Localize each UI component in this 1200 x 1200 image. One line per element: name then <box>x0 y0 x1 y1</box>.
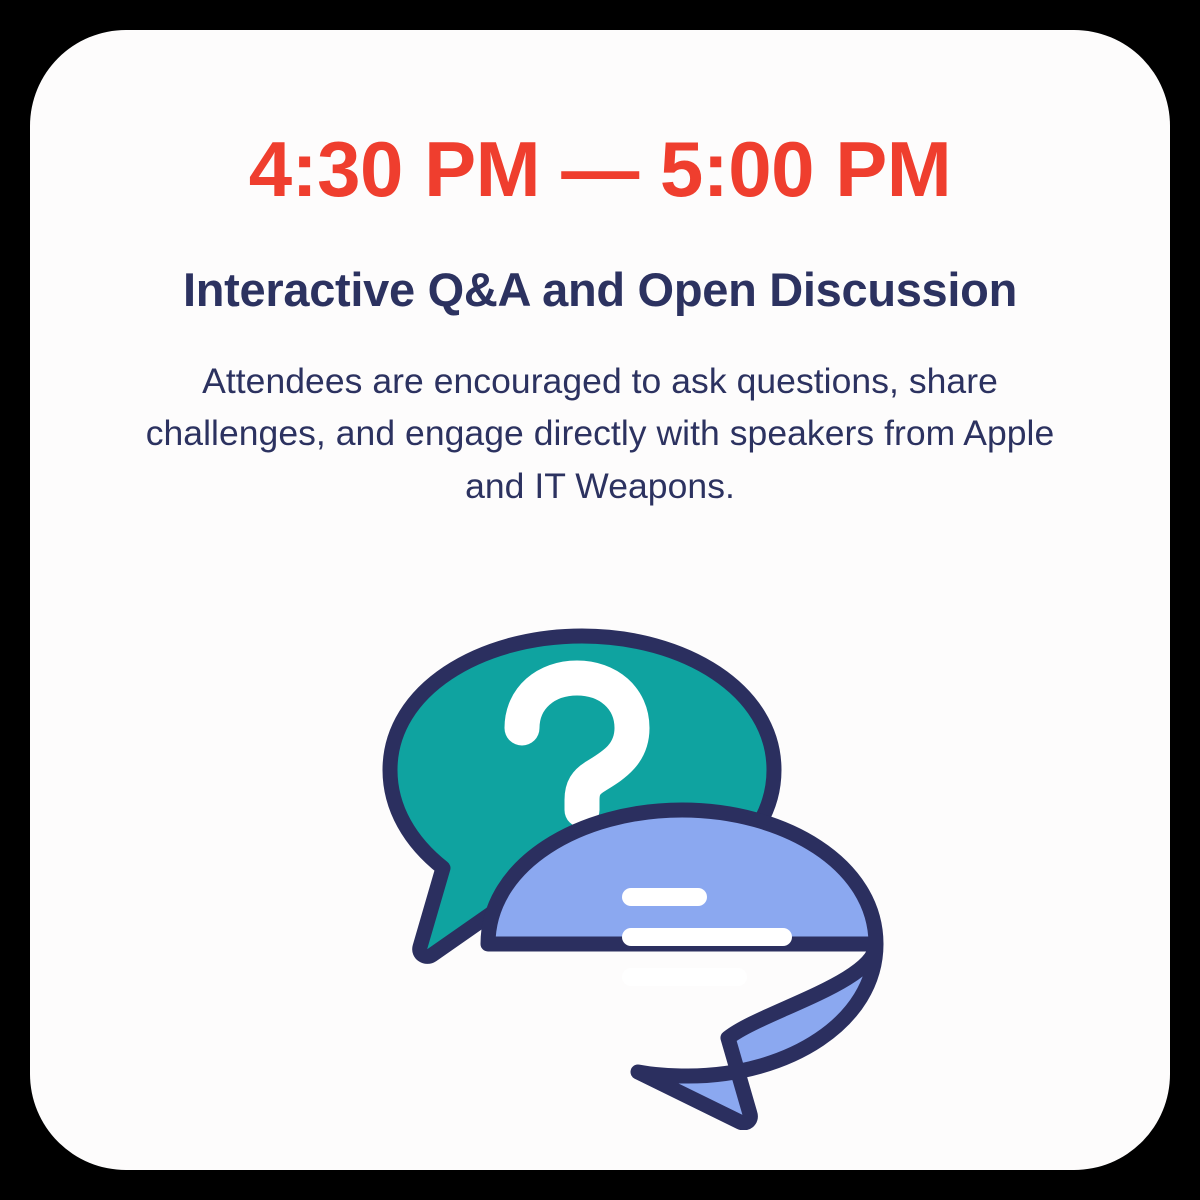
speech-bubbles-svg <box>360 610 890 1130</box>
session-time-range: 4:30 PM — 5:00 PM <box>30 130 1170 208</box>
blue-reply-bubble <box>488 810 876 1123</box>
reply-text-line-1 <box>622 888 707 906</box>
session-title: Interactive Q&A and Open Discussion <box>100 264 1100 317</box>
reply-text-line-3 <box>622 968 747 986</box>
blue-bubble-shape <box>488 810 876 1123</box>
screenshot-stage: 4:30 PM — 5:00 PM Interactive Q&A and Op… <box>0 0 1200 1200</box>
session-description: Attendees are encouraged to ask question… <box>120 355 1080 513</box>
reply-text-line-2 <box>622 928 792 946</box>
session-card: 4:30 PM — 5:00 PM Interactive Q&A and Op… <box>30 30 1170 1170</box>
two-speech-bubbles-qa-icon <box>360 610 890 1130</box>
